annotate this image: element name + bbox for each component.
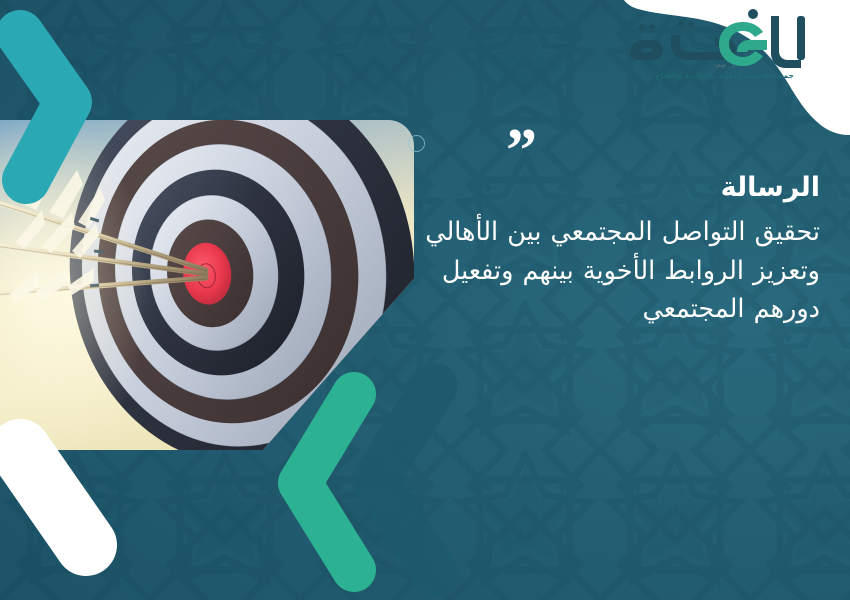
logo-tagline: جمعية التنمية الأهلية بالخالدية والفناخ — [655, 71, 794, 80]
organization-logo[interactable]: ٠٠١ ١٣٩٣ جمعية التنمية الأهلية بالخالدية… — [617, 8, 832, 100]
mission-text-block: ” الرسالة تحقيق التواصل المجتمعي بين الأ… — [420, 132, 820, 329]
chevron-left-dark-teal-icon — [330, 368, 470, 598]
quote-mark-icon: ” — [420, 132, 535, 170]
logo-wordmark-icon: ٠٠١ ١٣٩٣ — [625, 8, 825, 70]
mission-body-text: تحقيق التواصل المجتمعي بين الأهالي وتعزي… — [420, 213, 820, 329]
logo-registration-text: ٠٠١ ١٣٩٣ — [714, 64, 734, 70]
chevron-right-white-icon — [0, 440, 190, 600]
chevron-right-teal-icon — [8, 22, 113, 197]
poster-canvas: ٠٠١ ١٣٩٣ جمعية التنمية الأهلية بالخالدية… — [0, 0, 850, 600]
page-title: الرسالة — [420, 172, 820, 204]
